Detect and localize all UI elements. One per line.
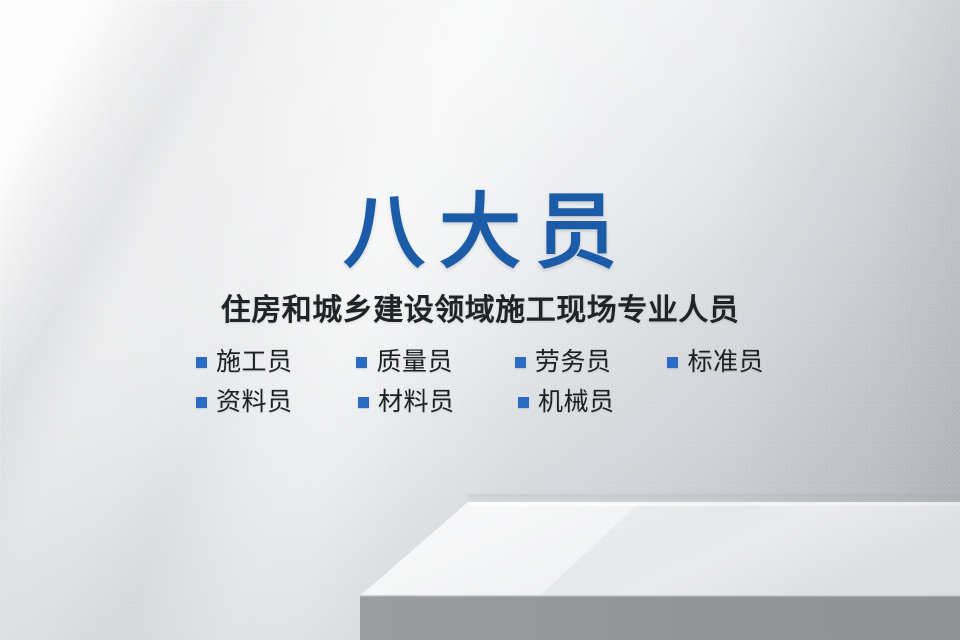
poster-content: 八大员 住房和城乡建设领域施工现场专业人员 施工员 质量员 劳务员 (0, 0, 960, 640)
square-bullet-icon (356, 357, 367, 368)
role-label: 劳务员 (535, 350, 612, 375)
role-item-laowuyuan[interactable]: 劳务员 (515, 350, 668, 375)
role-item-biaozhunyuan[interactable]: 标准员 (667, 350, 816, 375)
page-subtitle: 住房和城乡建设领域施工现场专业人员 (0, 285, 960, 329)
role-item-ziliaoyuan[interactable]: 资料员 (196, 390, 358, 415)
square-bullet-icon (518, 397, 529, 408)
role-list: 施工员 质量员 劳务员 标准员 资料员 (196, 350, 816, 430)
square-bullet-icon (358, 397, 369, 408)
square-bullet-icon (196, 357, 207, 368)
role-label: 质量员 (376, 350, 453, 375)
role-label: 机械员 (538, 390, 615, 415)
role-item-jixieyuan[interactable]: 机械员 (518, 390, 672, 415)
role-item-zhiliangyuan[interactable]: 质量员 (356, 350, 514, 375)
square-bullet-icon (515, 357, 526, 368)
role-item-cailiaoyuan[interactable]: 材料员 (358, 390, 518, 415)
square-bullet-icon (667, 357, 678, 368)
role-label: 材料员 (378, 390, 455, 415)
role-row-2: 资料员 材料员 机械员 (196, 390, 816, 430)
role-label: 标准员 (687, 350, 764, 375)
square-bullet-icon (196, 397, 207, 408)
role-label: 资料员 (216, 390, 293, 415)
poster-canvas: 八大员 住房和城乡建设领域施工现场专业人员 施工员 质量员 劳务员 (0, 0, 960, 640)
page-title: 八大员 (0, 190, 960, 276)
role-label: 施工员 (216, 350, 293, 375)
role-item-shigongyuan[interactable]: 施工员 (196, 350, 356, 375)
role-row-1: 施工员 质量员 劳务员 标准员 (196, 350, 816, 390)
